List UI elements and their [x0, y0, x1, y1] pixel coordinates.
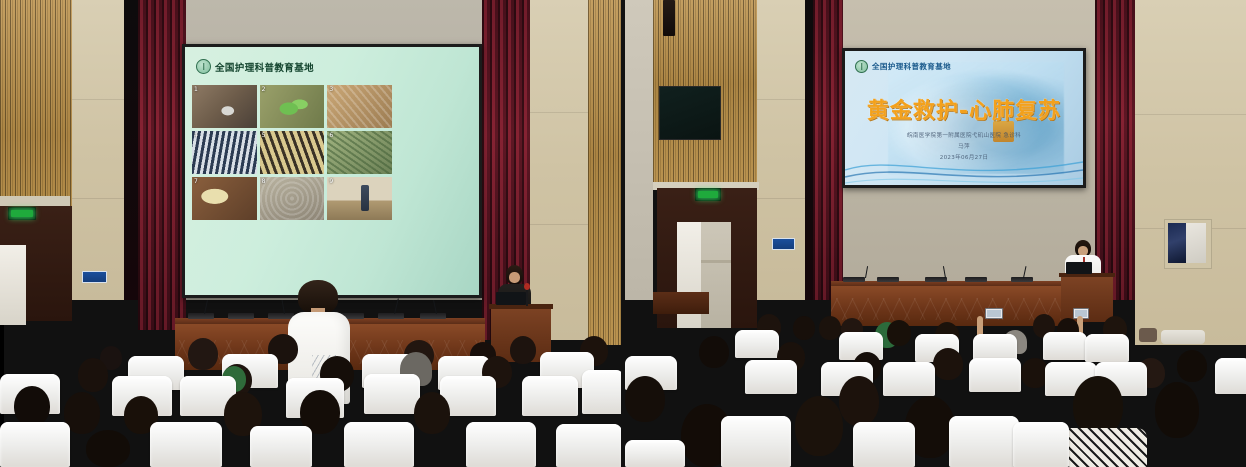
corridor-opening-left — [0, 245, 26, 325]
seat-cover — [625, 440, 685, 467]
grid-cell: 8 — [260, 177, 325, 220]
desk-nameplate — [877, 277, 899, 282]
exit-sign-icon — [695, 188, 721, 201]
grid-cell: 1 — [192, 85, 257, 128]
wall-display-panel — [659, 86, 721, 140]
desk-nameplate — [420, 313, 446, 319]
seat-cover — [582, 370, 621, 414]
seat-cover — [250, 426, 312, 467]
seat-cover — [1043, 332, 1087, 360]
blue-room-sign-left — [82, 271, 107, 283]
desk-nameplate — [965, 277, 987, 282]
slide-wave-decoration — [845, 150, 1083, 185]
patterned-jacket — [1057, 428, 1147, 467]
exit-sign-glow — [698, 191, 719, 198]
grid-cell: 3 — [327, 85, 392, 128]
audience-head — [699, 336, 729, 368]
seat-cover — [344, 422, 414, 467]
exit-sign-glow — [11, 210, 33, 217]
door-header-left — [0, 196, 70, 206]
window-glass-dark — [1168, 223, 1186, 263]
seat-cover — [364, 374, 420, 414]
audience-head — [887, 320, 911, 346]
snake-photo-grid: 1 2 3 4 5 6 7 8 9 — [192, 85, 392, 220]
slide-subtitle-org: 皖南医学院第一附属医院弋矶山医院 急诊科 — [845, 131, 1083, 139]
seat-cover — [522, 376, 578, 416]
audience-head — [793, 316, 815, 340]
slide-title: 黄金救护-心肺复苏 — [845, 93, 1083, 125]
wood-slat-wall-right — [588, 0, 621, 345]
audience-head — [1073, 376, 1123, 436]
desk-microphone — [394, 298, 399, 314]
slide-logo-text: 全国护理科普教育基地 — [872, 61, 951, 72]
blue-room-sign-right — [772, 238, 795, 250]
wave-svg — [845, 150, 1083, 185]
cell-number: 9 — [329, 178, 333, 185]
cell-number: 1 — [194, 86, 198, 93]
cell-number: 3 — [329, 86, 333, 93]
cell-number: 4 — [194, 132, 198, 139]
podium-laptop-left — [496, 292, 526, 305]
left-photo: 全国护理科普教育基地 1 2 3 4 5 6 7 8 9 — [0, 0, 621, 467]
desk-nameplate — [925, 277, 947, 282]
seat-cover — [883, 362, 935, 396]
phone-screen — [987, 310, 1001, 317]
podium-laptop-right — [1066, 262, 1092, 274]
grid-cell: 9 — [327, 177, 392, 220]
audience-right — [625, 300, 1246, 467]
audience-head — [819, 316, 841, 340]
slide-logo-text: 全国护理科普教育基地 — [215, 60, 314, 74]
ceiling-gap-left — [124, 0, 138, 300]
grid-cell: 4 — [192, 131, 257, 174]
grid-cell: 7 — [192, 177, 257, 220]
seat-cover — [0, 422, 70, 467]
desk-nameplate — [188, 313, 214, 319]
projection-screen-right: 全国护理科普教育基地 黄金救护-心肺复苏 皖南医学院第一附属医院弋矶山医院 急诊… — [845, 51, 1083, 185]
right-photo: 全国护理科普教育基地 黄金救护-心肺复苏 皖南医学院第一附属医院弋矶山医院 急诊… — [625, 0, 1246, 467]
seat-cover — [150, 422, 222, 467]
stone-column-right — [530, 0, 588, 340]
cell-number: 6 — [329, 132, 333, 139]
stage-curtain-right-photo — [813, 0, 843, 300]
audience-head — [188, 338, 218, 370]
slide-subtitle-presenter: 马萍 — [845, 142, 1083, 150]
audience-head — [86, 430, 130, 467]
photo-collage: 全国护理科普教育基地 1 2 3 4 5 6 7 8 9 — [0, 0, 1246, 467]
grid-cell: 2 — [260, 85, 325, 128]
stage-curtain-far-right — [1095, 0, 1135, 300]
seat-cover — [721, 416, 791, 467]
window-glass-light — [1186, 223, 1206, 263]
desk-microphone — [282, 300, 285, 314]
nursing-emblem-icon — [196, 59, 211, 74]
corridor-rail — [701, 260, 731, 263]
cell-number: 2 — [262, 86, 266, 93]
seat-cover — [1215, 358, 1246, 394]
audience-head — [14, 386, 50, 426]
phone-recording — [985, 308, 1003, 319]
desk-nameplate — [843, 277, 865, 282]
audience-left — [0, 330, 621, 467]
seat-cover — [969, 358, 1021, 392]
audience-head — [510, 336, 536, 364]
audience-head — [1155, 382, 1199, 438]
seat-cover — [949, 416, 1019, 467]
grid-cell: 6 — [327, 131, 392, 174]
stone-wall-far-right — [1135, 0, 1246, 345]
slide-logo-right: 全国护理科普教育基地 — [855, 60, 951, 73]
presenter-face — [509, 272, 520, 283]
audience-head — [933, 348, 963, 380]
stage-curtain-left — [138, 0, 186, 330]
wall-loudspeaker — [663, 0, 675, 36]
audience-head — [414, 392, 450, 434]
seat-cover — [735, 330, 779, 358]
exit-sign-icon — [8, 207, 36, 220]
stone-column-left — [72, 0, 124, 300]
seat-cover — [556, 424, 621, 467]
cell-number: 8 — [262, 178, 266, 185]
stone-column-right-photo — [757, 0, 805, 300]
microphone-head-left — [524, 283, 530, 290]
audience-head — [839, 376, 879, 426]
seat-cover — [1013, 422, 1069, 467]
desk-nameplate — [228, 313, 254, 319]
nursing-emblem-icon — [855, 60, 868, 73]
audience-head — [795, 396, 843, 456]
seat-cover — [1085, 334, 1129, 362]
seat-cover — [466, 422, 536, 467]
slide-logo-left: 全国护理科普教育基地 — [196, 59, 314, 74]
audience-head — [625, 376, 665, 422]
cell-number: 7 — [194, 178, 198, 185]
grid-cell: 5 — [260, 131, 325, 174]
cell-number: 5 — [262, 132, 266, 139]
seat-cover — [745, 360, 797, 394]
desk-nameplate — [378, 313, 404, 319]
seat-cover — [853, 422, 915, 467]
ceiling-gap-right — [805, 0, 813, 300]
audience-head — [1177, 350, 1207, 382]
corridor-left-wall — [625, 0, 653, 300]
projection-screen-left: 全国护理科普教育基地 1 2 3 4 5 6 7 8 9 — [185, 47, 479, 295]
audience-head — [78, 358, 108, 392]
